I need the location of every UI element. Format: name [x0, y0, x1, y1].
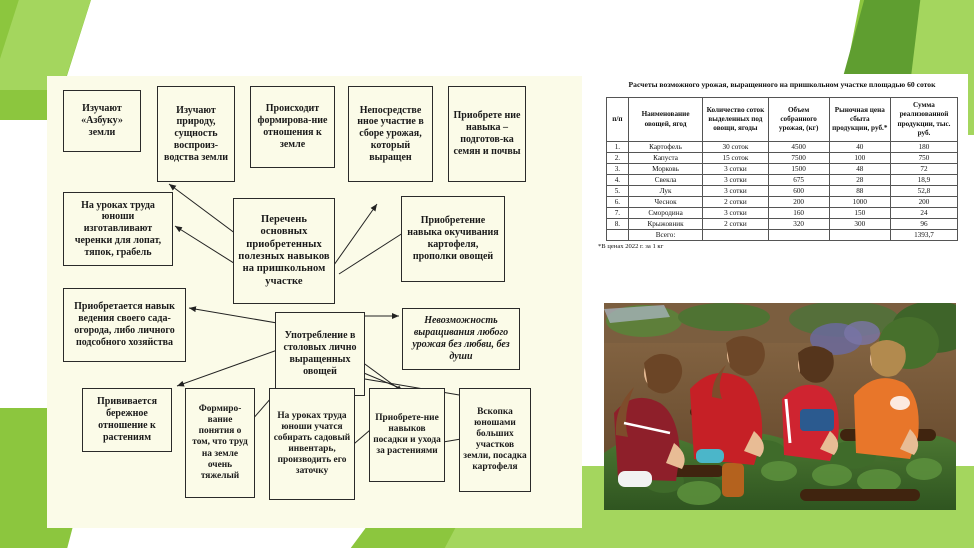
cell-sotki: 3 сотки	[703, 208, 768, 219]
cell-price: 28	[829, 175, 890, 186]
cell-total-label: Всего:	[628, 230, 703, 241]
table-footnote: *В ценах 2022 г. за 1 кг	[596, 241, 968, 250]
cell-name: Морковь	[628, 164, 703, 175]
node-vskopka-label: Вскопка юношами больших участков земли, …	[463, 407, 527, 474]
cell-sotki: 3 сотки	[703, 175, 768, 186]
node-sadogorod-label: Приобретается навык ведения своего сада-…	[67, 301, 182, 348]
table-row: 2. Капуста 15 соток 7500 100 750	[607, 153, 958, 164]
node-inventar[interactable]: На уроках труда юноши учатся собирать са…	[269, 388, 355, 500]
cell-sum: 52,8	[890, 186, 957, 197]
table-row: 3. Морковь 3 сотки 1500 48 72	[607, 164, 958, 175]
cell-sotki: 30 соток	[703, 142, 768, 153]
cell-sotki: 3 сотки	[703, 164, 768, 175]
node-stolovaya-label: Употребление в столовых лично выращенных…	[279, 330, 361, 377]
cell-volume: 1500	[768, 164, 829, 175]
table-row: 1. Картофель 30 соток 4500 40 180	[607, 142, 958, 153]
table-header-row: п/п Наименование овощей, ягод Количество…	[607, 98, 958, 142]
garden-photo-illustration	[604, 303, 956, 510]
cell-price: 40	[829, 142, 890, 153]
cell-name: Свекла	[628, 175, 703, 186]
node-azbuka-label: Изучают «Азбуку» земли	[67, 103, 137, 138]
cell-sum: 96	[890, 219, 957, 230]
node-ponyatie[interactable]: Формиро-вание понятия о том, что труд на…	[185, 388, 255, 498]
harvest-table-panel: Расчеты возможного урожая, выращенного н…	[596, 74, 968, 292]
cell-price: 100	[829, 153, 890, 164]
cell-volume: 7500	[768, 153, 829, 164]
cell-price: 48	[829, 164, 890, 175]
cell-price: 150	[829, 208, 890, 219]
cell-volume: 200	[768, 197, 829, 208]
node-priroda-label: Изучают природу, сущность воспроиз-водст…	[161, 105, 231, 164]
cell-sotki: 2 сотки	[703, 197, 768, 208]
cell-volume: 160	[768, 208, 829, 219]
node-ponyatie-label: Формиро-вание понятия о том, что труд на…	[189, 404, 251, 482]
table-total-row: Всего: 1393,7	[607, 230, 958, 241]
table-row: 7. Смородина 3 сотки 160 150 24	[607, 208, 958, 219]
cell-price: 300	[829, 219, 890, 230]
node-stolovaya[interactable]: Употребление в столовых лично выращенных…	[275, 312, 365, 396]
node-azbuka[interactable]: Изучают «Азбуку» земли	[63, 90, 141, 152]
cell-price: 1000	[829, 197, 890, 208]
slide-canvas: Изучают «Азбуку» земли Изучают природу, …	[0, 0, 974, 548]
garden-photo	[604, 303, 956, 510]
mind-map-diagram: Изучают «Азбуку» земли Изучают природу, …	[47, 76, 582, 528]
cell-sum: 24	[890, 208, 957, 219]
cell-total-num	[607, 230, 629, 241]
node-otnoshenie-label: Происходит формирова-ние отношения к зем…	[254, 103, 331, 150]
node-center[interactable]: Перечень основных приобретенных полезных…	[233, 198, 335, 304]
th-sum: Сумма реализованной продукции, тыс. руб.	[890, 98, 957, 142]
node-lyubov[interactable]: Невозможность выращивания любого урожая …	[402, 308, 520, 370]
node-okuchivanie[interactable]: Приобретение навыка окучивания картофеля…	[401, 196, 505, 282]
th-sotki: Количество соток выделенных под овощи, я…	[703, 98, 768, 142]
cell-price: 88	[829, 186, 890, 197]
cell-sum: 750	[890, 153, 957, 164]
node-semena-label: Приобрете ние навыка – подготов-ка семян…	[452, 110, 522, 157]
cell-sum: 18,9	[890, 175, 957, 186]
cell-total-sotki	[703, 230, 768, 241]
table-body: 1. Картофель 30 соток 4500 40 180 2. Кап…	[607, 142, 958, 241]
node-berezhnoe[interactable]: Прививается бережное отношение к растени…	[82, 388, 172, 452]
harvest-table: п/п Наименование овощей, ягод Количество…	[606, 97, 958, 241]
node-otnoshenie[interactable]: Происходит формирова-ние отношения к зем…	[250, 86, 335, 168]
cell-name: Картофель	[628, 142, 703, 153]
cell-sum: 72	[890, 164, 957, 175]
cell-total-price	[829, 230, 890, 241]
cell-num: 2.	[607, 153, 629, 164]
node-posadka[interactable]: Приобрете-ние навыков посадки и ухода за…	[369, 388, 445, 482]
cell-num: 6.	[607, 197, 629, 208]
cell-num: 7.	[607, 208, 629, 219]
cell-total-volume	[768, 230, 829, 241]
node-cherenki[interactable]: На уроках труда юноши изготавливают чере…	[63, 192, 173, 266]
node-posadka-label: Приобрете-ние навыков посадки и ухода за…	[373, 413, 441, 457]
cell-total-sum: 1393,7	[890, 230, 957, 241]
cell-sum: 180	[890, 142, 957, 153]
cell-volume: 600	[768, 186, 829, 197]
table-title: Расчеты возможного урожая, выращенного н…	[596, 74, 968, 94]
node-cherenki-label: На уроках труда юноши изготавливают чере…	[67, 200, 169, 259]
table-row: 8. Крыжовник 2 сотки 320 300 96	[607, 219, 958, 230]
cell-name: Чеснок	[628, 197, 703, 208]
cell-num: 1.	[607, 142, 629, 153]
node-lyubov-label: Невозможность выращивания любого урожая …	[406, 315, 516, 362]
node-vskopka[interactable]: Вскопка юношами больших участков земли, …	[459, 388, 531, 492]
node-uchastie-label: Непосредстве нное участие в сборе урожая…	[352, 105, 429, 164]
table-row: 6. Чеснок 2 сотки 200 1000 200	[607, 197, 958, 208]
table-row: 4. Свекла 3 сотки 675 28 18,9	[607, 175, 958, 186]
cell-num: 4.	[607, 175, 629, 186]
cell-name: Лук	[628, 186, 703, 197]
node-center-label: Перечень основных приобретенных полезных…	[237, 214, 331, 288]
th-name: Наименование овощей, ягод	[628, 98, 703, 142]
cell-name: Крыжовник	[628, 219, 703, 230]
cell-sotki: 15 соток	[703, 153, 768, 164]
cell-sum: 200	[890, 197, 957, 208]
node-semena[interactable]: Приобрете ние навыка – подготов-ка семян…	[448, 86, 526, 182]
cell-num: 5.	[607, 186, 629, 197]
node-berezhnoe-label: Прививается бережное отношение к растени…	[86, 396, 168, 443]
node-sadogorod[interactable]: Приобретается навык ведения своего сада-…	[63, 288, 186, 362]
cell-name: Смородина	[628, 208, 703, 219]
cell-name: Капуста	[628, 153, 703, 164]
cell-volume: 320	[768, 219, 829, 230]
th-volume: Объем собранного урожая, (кг)	[768, 98, 829, 142]
cell-volume: 675	[768, 175, 829, 186]
table-head: п/п Наименование овощей, ягод Количество…	[607, 98, 958, 142]
node-inventar-label: На уроках труда юноши учатся собирать са…	[273, 411, 351, 478]
node-okuchivanie-label: Приобретение навыка окучивания картофеля…	[405, 215, 501, 262]
cell-sotki: 3 сотки	[703, 186, 768, 197]
th-price: Рыночная цена сбыта продукции, руб.*	[829, 98, 890, 142]
table-row: 5. Лук 3 сотки 600 88 52,8	[607, 186, 958, 197]
cell-num: 3.	[607, 164, 629, 175]
node-uchastie[interactable]: Непосредстве нное участие в сборе урожая…	[348, 86, 433, 182]
node-priroda[interactable]: Изучают природу, сущность воспроиз-водст…	[157, 86, 235, 182]
th-num: п/п	[607, 98, 629, 142]
cell-volume: 4500	[768, 142, 829, 153]
cell-num: 8.	[607, 219, 629, 230]
cell-sotki: 2 сотки	[703, 219, 768, 230]
